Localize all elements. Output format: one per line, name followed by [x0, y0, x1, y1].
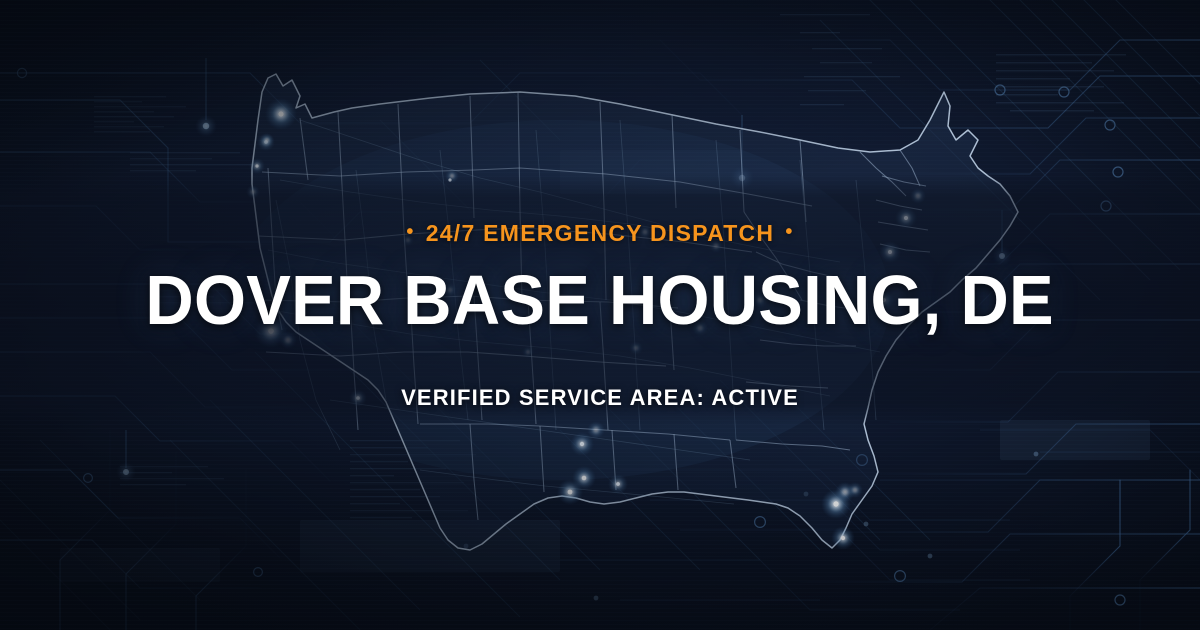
hero-banner: • 24/7 EMERGENCY DISPATCH • DOVER BASE H…: [0, 0, 1200, 630]
bullet-left-icon: •: [406, 222, 414, 242]
eyebrow-badge: • 24/7 EMERGENCY DISPATCH •: [406, 222, 793, 245]
page-title: DOVER BASE HOUSING, DE: [146, 265, 1054, 335]
eyebrow-label: 24/7 EMERGENCY DISPATCH: [426, 222, 775, 245]
status-badge: VERIFIED SERVICE AREA: ACTIVE: [401, 387, 799, 409]
bullet-right-icon: •: [785, 222, 793, 242]
hero-content: • 24/7 EMERGENCY DISPATCH • DOVER BASE H…: [0, 0, 1200, 630]
